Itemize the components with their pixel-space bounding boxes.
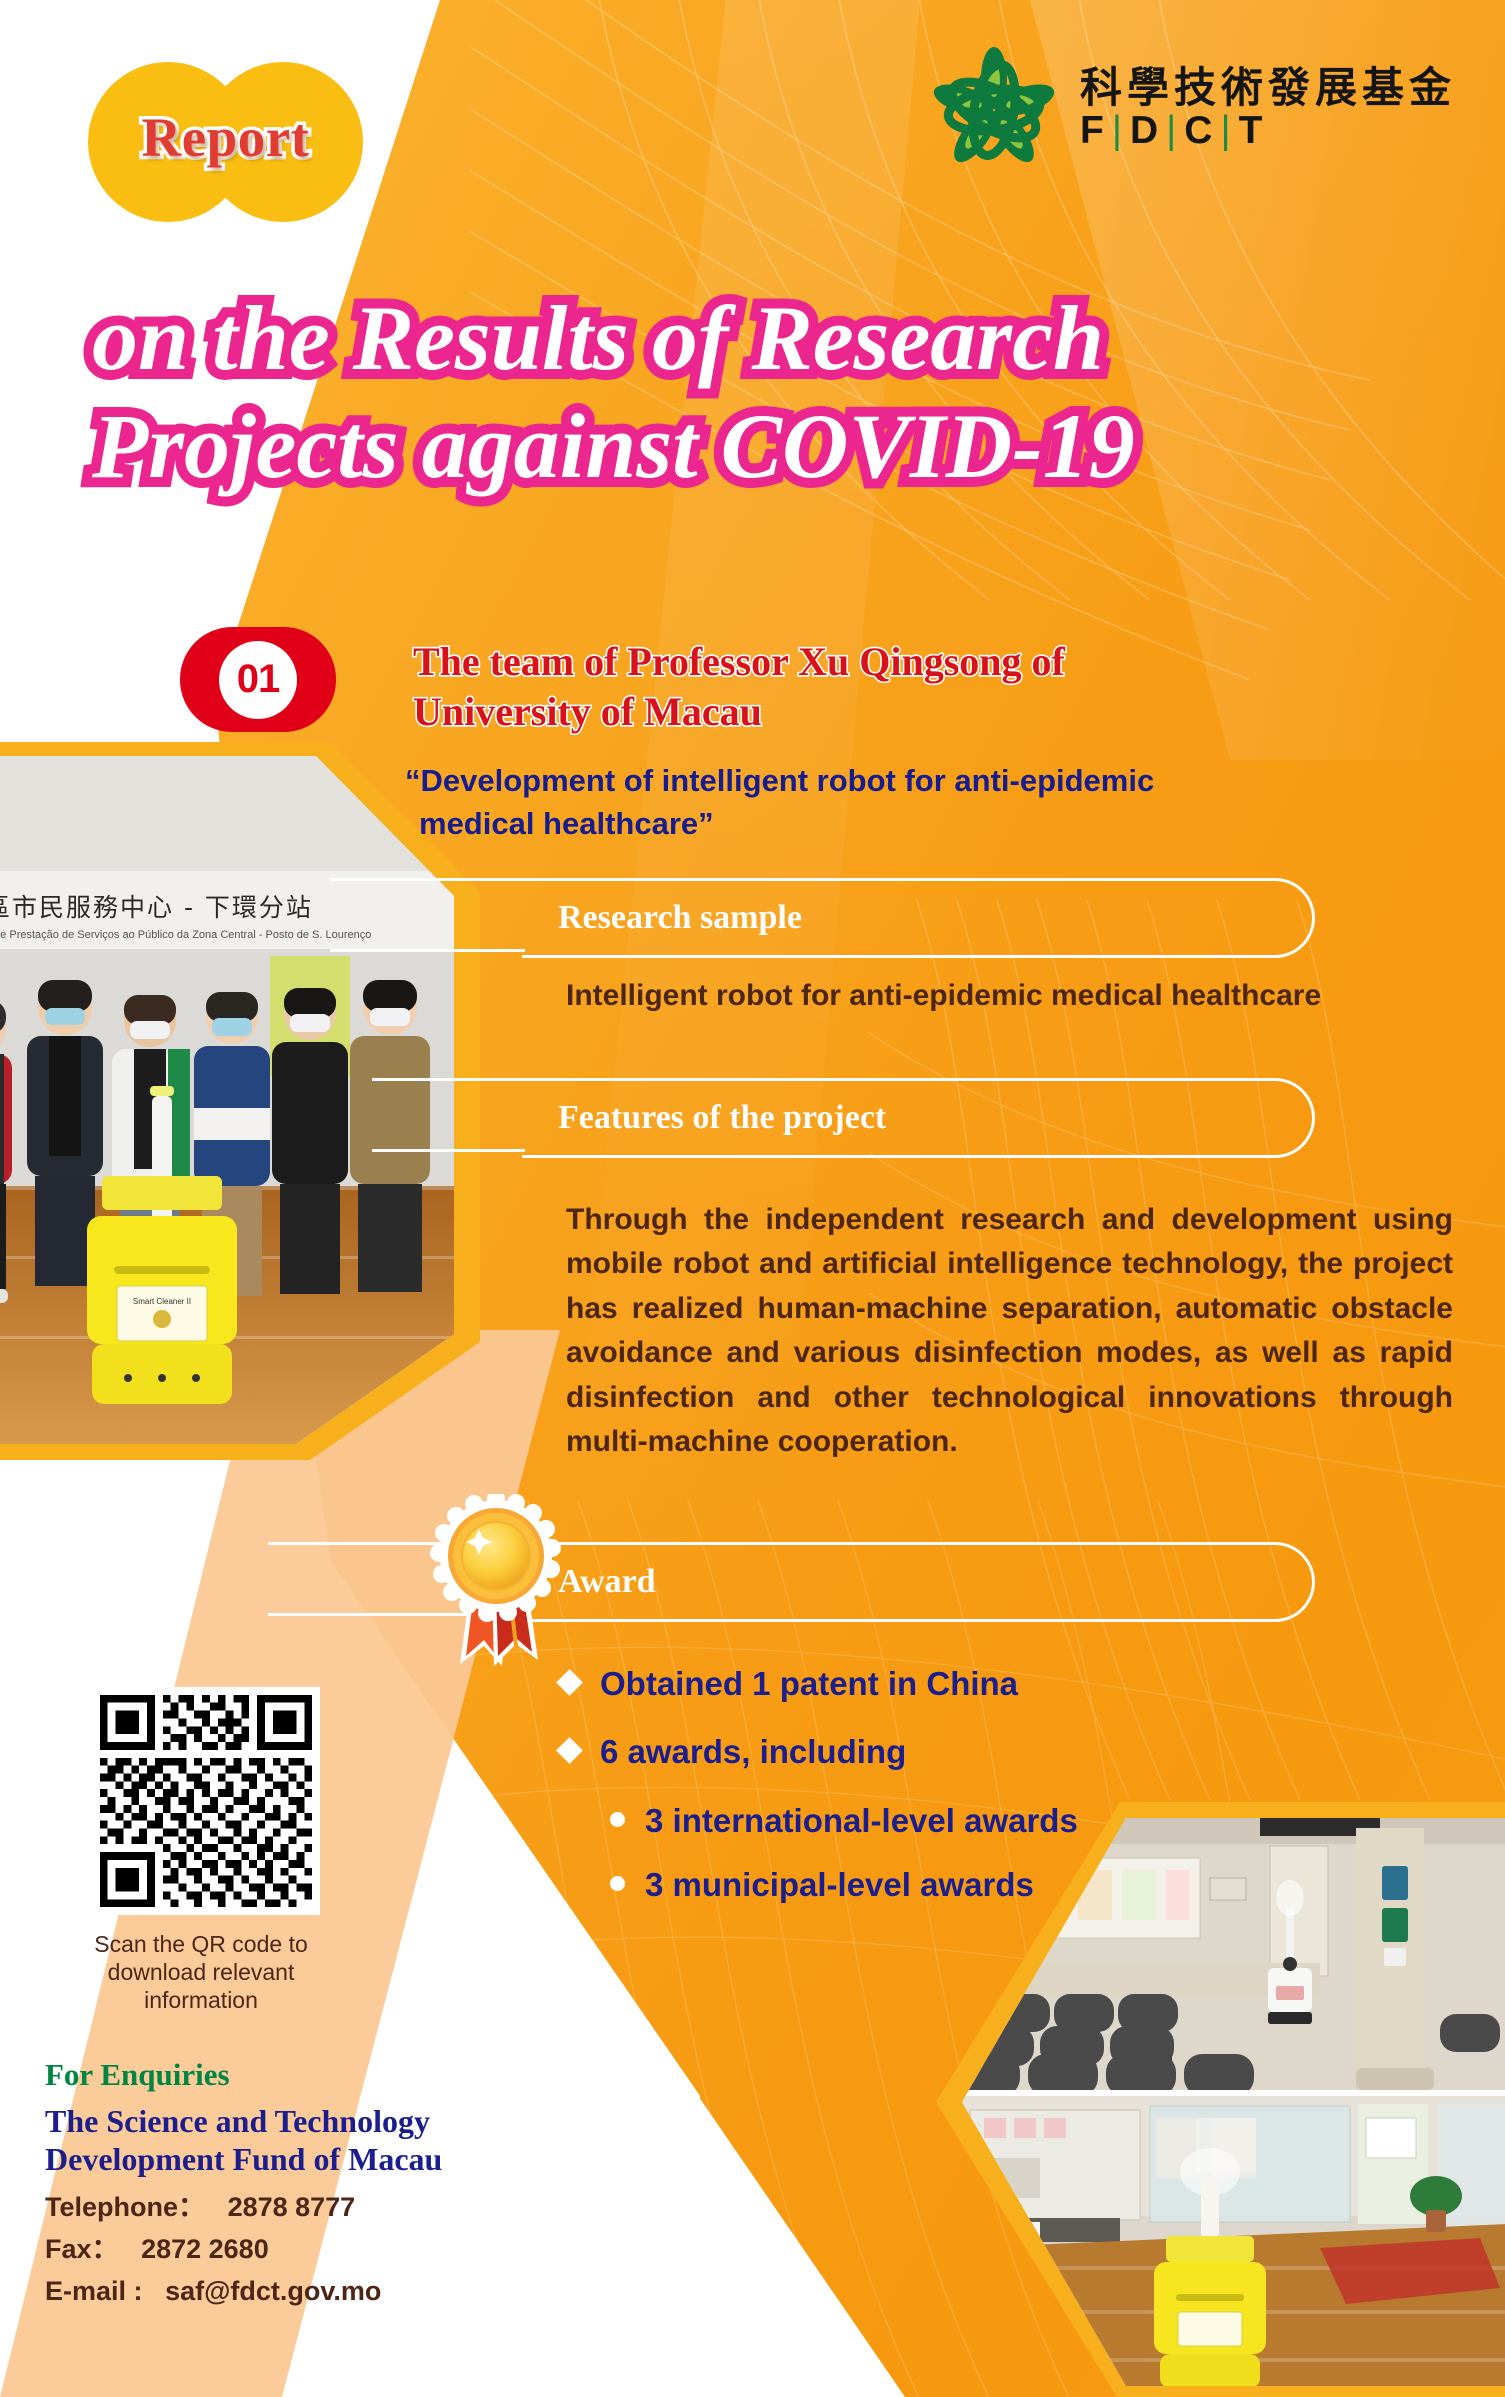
enquiries-org-line-2: Development Fund of Macau <box>45 2140 545 2178</box>
features-heading-pill: Features of the project <box>522 1078 1315 1158</box>
enquiries-contacts: Telephone： 2878 8777 Fax： 2872 2680 E-ma… <box>45 2186 565 2312</box>
qr-caption-line-1: Scan the QR code to <box>36 1930 366 1958</box>
research-sample-pill-tail-top <box>330 878 525 881</box>
project-title: “Development of intelligent robot for an… <box>405 760 1405 846</box>
svg-text:中區市民服務中心 - 下環分站: 中區市民服務中心 - 下環分站 <box>0 893 313 922</box>
poster-root: Report <box>0 0 1505 2397</box>
fdct-flower-icon <box>930 46 1058 174</box>
research-sample-heading: Research sample <box>558 899 802 937</box>
award-item: 6 awards, including <box>560 1732 1360 1772</box>
fdct-chinese-name: 科學技術發展基金 <box>1080 67 1456 109</box>
qr-caption: Scan the QR code to download relevant in… <box>36 1930 366 2014</box>
features-body: Through the independent research and dev… <box>566 1198 1453 1464</box>
team-heading: The team of Professor Xu Qingsong of Uni… <box>413 637 1313 737</box>
team-heading-line-1: The team of Professor Xu Qingsong of <box>413 637 1313 687</box>
enquiries-fax-row: Fax： 2872 2680 <box>45 2228 565 2270</box>
enquiries-fax-label: Fax： <box>45 2234 119 2264</box>
team-photo: 中區市民服務中心 - 下環分站 Centro de Prestação de S… <box>0 756 454 1446</box>
page-title: on the Results of Research on the Result… <box>92 292 1422 492</box>
diamond-bullet-icon <box>556 1669 583 1696</box>
page-title-line-2: Projects against COVID-19 Projects again… <box>92 400 1422 492</box>
fdct-letter-t: T <box>1239 109 1265 152</box>
fdct-sep-3: | <box>1214 109 1238 152</box>
team-photo-frame: 中區市民服務中心 - 下環分站 Centro de Prestação de S… <box>0 742 480 1462</box>
qr-code[interactable] <box>92 1687 320 1915</box>
title-line-2-text: Projects against COVID-19 <box>92 400 1135 492</box>
features-pill-tail-top <box>372 1078 525 1081</box>
report-label: Report <box>88 106 363 169</box>
enquiries-telephone-row: Telephone： 2878 8777 <box>45 2186 565 2228</box>
fdct-logo: 科學技術發展基金 F|D|C|T <box>930 42 1460 177</box>
fdct-sep-2: | <box>1160 109 1184 152</box>
report-badge: Report <box>88 62 368 222</box>
enquiries-email-label: E-mail : <box>45 2276 143 2306</box>
enquiries-email-row: E-mail : saf@fdct.gov.mo <box>45 2270 565 2312</box>
enquiries-org-line-1: The Science and Technology <box>45 2102 545 2140</box>
fdct-logo-text: 科學技術發展基金 F|D|C|T <box>1080 67 1456 152</box>
fdct-sep-1: | <box>1106 109 1130 152</box>
fdct-letter-d: D <box>1130 109 1160 152</box>
enquiries-telephone-value: 2878 8777 <box>228 2192 356 2222</box>
award-sub-item-label: 3 municipal-level awards <box>645 1865 1034 1905</box>
dot-bullet-icon <box>610 1812 625 1827</box>
features-pill-tail-bottom <box>372 1149 525 1152</box>
award-item-label: 6 awards, including <box>600 1732 906 1772</box>
enquiries-heading: For Enquiries <box>45 2057 230 2093</box>
fdct-acronym: F|D|C|T <box>1080 111 1456 152</box>
project-title-line-2: medical healthcare” <box>405 803 1405 846</box>
features-heading: Features of the project <box>558 1099 886 1137</box>
svg-text:Centro de Prestação de Serviço: Centro de Prestação de Serviços ao Públi… <box>0 929 371 941</box>
enquiries-email-value[interactable]: saf@fdct.gov.mo <box>165 2276 381 2306</box>
award-medal-icon <box>424 1494 576 1672</box>
project-number-label: 01 <box>219 641 297 719</box>
team-heading-line-2: University of Macau <box>413 687 1313 737</box>
fdct-letter-f: F <box>1080 109 1106 152</box>
project-title-line-1: “Development of intelligent robot for an… <box>405 763 1154 798</box>
dot-bullet-icon <box>610 1876 625 1891</box>
award-item-label: Obtained 1 patent in China <box>600 1664 1018 1704</box>
research-sample-heading-pill: Research sample <box>522 878 1315 958</box>
qr-caption-line-3: information <box>36 1986 366 2014</box>
award-sub-item-label: 3 international-level awards <box>645 1801 1078 1841</box>
qr-caption-line-2: download relevant <box>36 1958 366 1986</box>
page-title-line-1: on the Results of Research on the Result… <box>92 292 1422 384</box>
research-sample-body: Intelligent robot for anti-epidemic medi… <box>566 979 1456 1013</box>
award-heading-pill: Award <box>522 1542 1315 1622</box>
enquiries-organisation: The Science and Technology Development F… <box>45 2102 545 2179</box>
enquiries-telephone-label: Telephone： <box>45 2192 205 2222</box>
qr-code-image[interactable] <box>92 1687 320 1915</box>
fdct-letter-c: C <box>1184 109 1214 152</box>
svg-text:Smart Cleaner II: Smart Cleaner II <box>133 1297 191 1306</box>
enquiries-fax-value: 2872 2680 <box>141 2234 269 2264</box>
project-number-badge: 01 <box>180 627 336 732</box>
title-line-1-text: on the Results of Research <box>92 292 1104 384</box>
team-photo-image: 中區市民服務中心 - 下環分站 Centro de Prestação de S… <box>0 756 454 1446</box>
research-sample-pill-tail-bottom <box>330 949 525 952</box>
award-item: Obtained 1 patent in China <box>560 1664 1360 1704</box>
diamond-bullet-icon <box>556 1737 583 1764</box>
